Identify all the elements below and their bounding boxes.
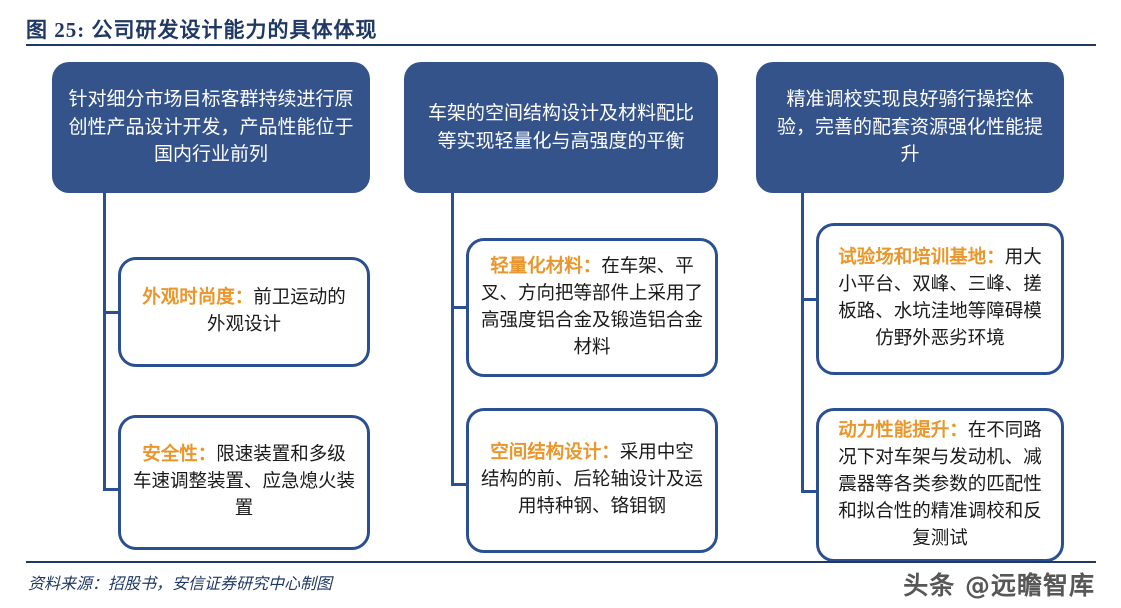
source-note: 资料来源：招股书，安信证券研究中心制图 (28, 570, 332, 594)
sub-box-1-0[interactable]: 轻量化材料：在车架、平叉、方向把等部件上采用了高强度铝合金及锻造铝合金材料 (466, 238, 718, 377)
sub-box-0-1-text: 安全性：限速装置和多级车速调整装置、应急熄火装置 (133, 442, 355, 523)
header-box-2-text: 精准调校实现良好骑行操控体验，完善的配套资源强化性能提升 (772, 86, 1048, 170)
header-box-0-text: 针对细分市场目标客群持续进行原创性产品设计开发，产品性能位于国内行业前列 (68, 86, 354, 170)
connector-stem-1 (451, 193, 454, 486)
connector-stem-2 (801, 193, 804, 493)
sub-box-0-0[interactable]: 外观时尚度：前卫运动的外观设计 (118, 257, 370, 367)
page-title: 图 25: 公司研发设计能力的具体体现 (26, 14, 378, 44)
sub-box-2-1-text: 动力性能提升：在不同路况下对车架与发动机、减震器等各类参数的匹配性和拟合性的精准… (831, 418, 1049, 553)
sub-box-0-0-lead: 外观时尚度： (142, 288, 253, 308)
sub-box-1-1-lead: 空间结构设计： (490, 443, 620, 463)
sub-box-2-0-lead: 试验场和培训基地： (838, 248, 1005, 268)
header-box-1-text: 车架的空间结构设计及材料配比等实现轻量化与高强度的平衡 (420, 100, 702, 156)
title-divider (26, 44, 1096, 46)
sub-box-2-0-text: 试验场和培训基地：用大小平台、双峰、三峰、搓板路、水坑洼地等障碍模仿野外恶劣环境 (831, 245, 1049, 353)
sub-box-1-1-text: 空间结构设计：采用中空结构的前、后轮轴设计及运用特种钢、铬钼钢 (481, 440, 703, 521)
sub-box-0-1-lead: 安全性： (142, 445, 216, 465)
sub-box-2-1-lead: 动力性能提升： (838, 421, 968, 441)
sub-box-1-0-text: 轻量化材料：在车架、平叉、方向把等部件上采用了高强度铝合金及锻造铝合金材料 (481, 254, 703, 362)
header-box-0[interactable]: 针对细分市场目标客群持续进行原创性产品设计开发，产品性能位于国内行业前列 (52, 62, 370, 193)
header-box-2[interactable]: 精准调校实现良好骑行操控体验，完善的配套资源强化性能提升 (756, 62, 1064, 193)
footer-divider (26, 561, 1096, 563)
sub-box-0-0-text: 外观时尚度：前卫运动的外观设计 (133, 285, 355, 339)
header-box-1[interactable]: 车架的空间结构设计及材料配比等实现轻量化与高强度的平衡 (404, 62, 718, 193)
sub-box-1-1[interactable]: 空间结构设计：采用中空结构的前、后轮轴设计及运用特种钢、铬钼钢 (466, 408, 718, 553)
connector-stem-0 (103, 193, 106, 491)
sub-box-0-1[interactable]: 安全性：限速装置和多级车速调整装置、应急熄火装置 (118, 415, 370, 550)
sub-box-1-0-lead: 轻量化材料： (490, 257, 601, 277)
sub-box-2-1[interactable]: 动力性能提升：在不同路况下对车架与发动机、减震器等各类参数的匹配性和拟合性的精准… (816, 408, 1064, 562)
sub-box-2-0[interactable]: 试验场和培训基地：用大小平台、双峰、三峰、搓板路、水坑洼地等障碍模仿野外恶劣环境 (816, 223, 1064, 375)
watermark-logo: 头条 @远瞻智库 (903, 566, 1095, 602)
